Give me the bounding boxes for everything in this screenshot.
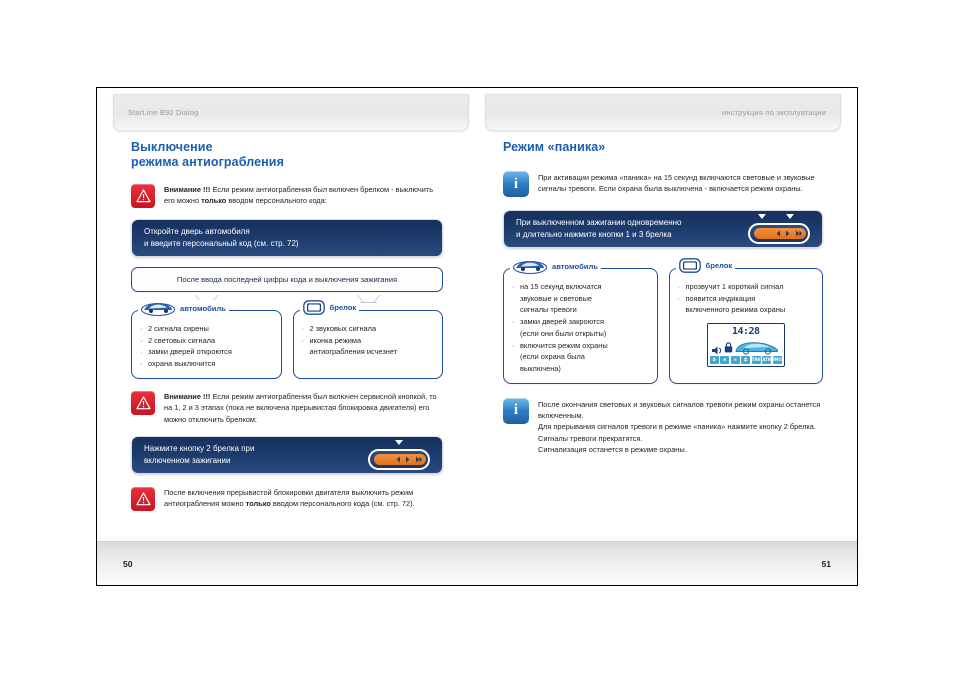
list-item-text: появится индикация <box>686 294 756 303</box>
result-head-fob: брелок <box>676 258 736 273</box>
list-item-text: 2 звуковых сигнала <box>310 324 377 333</box>
warning-note-3-strong-b: только <box>246 499 271 508</box>
chevron-down-icon <box>360 295 376 304</box>
warning-triangle-icon <box>131 184 155 208</box>
step-instruction-line1: Откройте дверь автомобиля <box>144 227 250 236</box>
warning-note-1-strong: Внимание !!! <box>164 185 210 194</box>
info-icon: i <box>503 398 529 424</box>
list-item-text: охрана выключится <box>148 359 215 368</box>
result-head-fob: брелок <box>300 300 360 315</box>
bullet: · <box>140 323 142 334</box>
list-item-text: прозвучит 1 короткий сигнал <box>686 282 784 291</box>
right-content-column: Режим «паника» i При активации режима «п… <box>477 140 857 541</box>
bullet: · <box>512 340 514 351</box>
list-item: ·2 световых сигнала <box>140 335 273 346</box>
step-instruction-bar: Откройте дверь автомобиля и введите перс… <box>131 219 443 257</box>
info-note-1-text: При активации режима «паника» на 15 секу… <box>538 171 823 195</box>
bullet: · <box>678 281 680 292</box>
list-item-text: (если охрана была <box>520 352 585 361</box>
list-item: ·замки дверей закроются <box>512 316 649 327</box>
step-instruction-line2: и введите персональный код (см. стр. 72) <box>144 239 299 248</box>
lcd-status-strip: ⏱ ✖ ≡ ⚿ TRN ATN IMO <box>710 356 782 364</box>
action-instruction-bar: Нажмите кнопку 2 брелка при включенном з… <box>131 436 443 474</box>
list-item: ·появится индикация <box>678 293 815 304</box>
list-item: ·иконка режима <box>302 335 435 346</box>
fob-lcd-display: 14:28 <box>707 323 785 367</box>
info-icon: i <box>503 171 529 197</box>
results-row-left: автомобиль ·2 сигнала сирены ·2 световых… <box>131 310 443 379</box>
key-fob-icon <box>303 300 325 315</box>
bullet: · <box>140 335 142 346</box>
lcd-status-cell: ≡ <box>731 356 740 364</box>
page-title-left: Выключение режима антиограбления <box>131 140 443 170</box>
list-item-text: сигналы тревоги <box>520 305 577 314</box>
result-head-car: автомобиль <box>138 300 229 316</box>
panic-action-bar: При выключенном зажигании одновременно и… <box>503 210 823 248</box>
lcd-status-cell: ⚿ <box>741 356 750 364</box>
page-left: StarLine B92 Dialog Выключение режима ан… <box>97 88 477 541</box>
list-item: ·замки дверей откроются <box>140 346 273 357</box>
lcd-status-cell: TRN <box>752 356 761 364</box>
fob-button-glyphs <box>396 455 426 464</box>
list-item: антиограбления исчезнет <box>302 346 435 357</box>
list-item: ·прозвучит 1 короткий сигнал <box>678 281 815 292</box>
result-box-fob: брелок ·2 звуковых сигнала ·иконка режим… <box>293 310 444 379</box>
warning-triangle-icon <box>131 391 155 415</box>
page-right: инструкция по эксплуатации Режим «паника… <box>477 88 857 541</box>
list-item-text: замки дверей закроются <box>520 317 604 326</box>
header-left-text: StarLine B92 Dialog <box>114 108 213 117</box>
list-item: выключена) <box>512 363 649 374</box>
warning-note-3-text: После включения прерывистой блокировки д… <box>164 487 443 510</box>
list-item-text: (если они были открыты) <box>520 329 606 338</box>
bullet: · <box>678 293 680 304</box>
pages-container: StarLine B92 Dialog Выключение режима ан… <box>97 88 857 541</box>
result-list-car: ·на 15 секунд включатся звуковые и свето… <box>512 281 649 374</box>
car-icon <box>141 300 175 316</box>
warning-note-1-text: Внимание !!! Если режим антиограбления б… <box>164 184 443 207</box>
header-bar-right: инструкция по эксплуатации <box>485 94 841 131</box>
list-item: сигналы тревоги <box>512 304 649 315</box>
button-marker-icon <box>786 214 794 219</box>
list-item: (если они были открыты) <box>512 328 649 339</box>
manual-spread: StarLine B92 Dialog Выключение режима ан… <box>96 87 858 586</box>
warning-note-2-strong: Внимание !!! <box>164 392 210 401</box>
info-note-2: i После окончания световых и звуковых си… <box>503 398 823 456</box>
condition-bar: После ввода последней цифры кода и выклю… <box>131 267 443 292</box>
action-instruction-line2: включенном зажигании <box>144 456 230 465</box>
action-instruction-line1: Нажмите кнопку 2 брелка при <box>144 444 254 453</box>
lcd-status-cell: ⏱ <box>710 356 719 364</box>
bullet: · <box>512 316 514 327</box>
warning-note-2-text: Внимание !!! Если режим антиограбления б… <box>164 391 443 425</box>
result-label-fob: брелок <box>330 303 357 312</box>
page-title-left-line2: режима антиограбления <box>131 155 284 169</box>
list-item: ·на 15 секунд включатся <box>512 281 649 292</box>
list-item: (если охрана была <box>512 351 649 362</box>
step-instruction-text: Откройте дверь автомобиля и введите перс… <box>144 226 430 251</box>
key-fob-icon <box>679 258 701 273</box>
info-note-1: i При активации режима «паника» на 15 се… <box>503 171 823 197</box>
list-item-text: 2 сигнала сирены <box>148 324 209 333</box>
list-item-text: 2 световых сигнала <box>148 336 215 345</box>
list-item: включенного режима охраны <box>678 304 815 315</box>
list-item-text: на 15 секунд включатся <box>520 282 602 291</box>
list-item-text: замки дверей откроются <box>148 347 232 356</box>
fob-body <box>368 449 430 470</box>
fob-button-graphic <box>748 214 810 244</box>
info-note-2-text: После окончания световых и звуковых сигн… <box>538 398 823 456</box>
list-item-text: звуковые и световые <box>520 294 592 303</box>
lock-icon <box>724 340 733 351</box>
warning-note-3: После включения прерывистой блокировки д… <box>131 487 443 511</box>
lcd-clock: 14:28 <box>708 326 784 337</box>
result-box-fob: брелок ·прозвучит 1 короткий сигнал ·поя… <box>669 268 824 384</box>
list-item-text: включится режим охраны <box>520 341 608 350</box>
panic-action-line2: и длительно нажмите кнопки 1 и 3 брелка <box>516 230 672 239</box>
list-item-text: выключена) <box>520 364 561 373</box>
warning-note-1-strong-b: только <box>201 196 226 205</box>
page-footer: 50 51 <box>97 541 857 585</box>
lcd-status-cell: ATN <box>762 356 771 364</box>
warning-note-2: Внимание !!! Если режим антиограбления б… <box>131 391 443 425</box>
header-right-text: инструкция по эксплуатации <box>708 108 840 117</box>
result-list-fob: ·прозвучит 1 короткий сигнал ·появится и… <box>678 281 815 316</box>
results-row-right: автомобиль ·на 15 секунд включатся звуко… <box>503 268 823 384</box>
bullet: · <box>140 346 142 357</box>
result-label-car: автомобиль <box>180 304 226 313</box>
panic-action-text: При выключенном зажигании одновременно и… <box>516 217 748 242</box>
result-head-car: автомобиль <box>510 258 601 274</box>
result-list-fob: ·2 звуковых сигнала ·иконка режима антио… <box>302 323 435 358</box>
result-label-car: автомобиль <box>552 262 598 271</box>
result-box-car: автомобиль ·на 15 секунд включатся звуко… <box>503 268 658 384</box>
fob-body <box>748 223 810 244</box>
page-number-left: 50 <box>123 559 132 569</box>
list-item-text: включенного режима охраны <box>686 305 786 314</box>
result-label-fob: брелок <box>706 261 733 270</box>
bullet: · <box>140 358 142 369</box>
warning-triangle-icon <box>131 487 155 511</box>
list-item: звуковые и световые <box>512 293 649 304</box>
warning-note-3-c: вводом персонального кода (см. стр. 72). <box>271 499 415 508</box>
warning-note-1-c: вводом персонального кода: <box>226 196 326 205</box>
left-content-column: Выключение режима антиограбления <box>97 140 477 541</box>
bullet: · <box>302 323 304 334</box>
action-instruction-text: Нажмите кнопку 2 брелка при включенном з… <box>144 443 368 468</box>
fob-button-glyphs <box>776 229 806 238</box>
page-title-right: Режим «паника» <box>503 140 823 155</box>
warning-note-1: Внимание !!! Если режим антиограбления б… <box>131 184 443 208</box>
bullet: · <box>512 281 514 292</box>
header-bar-left: StarLine B92 Dialog <box>113 94 469 131</box>
result-box-car: автомобиль ·2 сигнала сирены ·2 световых… <box>131 310 282 379</box>
button-marker-icon <box>758 214 766 219</box>
lcd-status-cell: IMO <box>773 356 782 364</box>
list-item: ·2 звуковых сигнала <box>302 323 435 334</box>
horn-icon <box>711 342 723 351</box>
list-item: ·2 сигнала сирены <box>140 323 273 334</box>
lcd-car-icon <box>734 339 780 355</box>
car-icon <box>513 258 547 274</box>
result-list-car: ·2 сигнала сирены ·2 световых сигнала ·з… <box>140 323 273 369</box>
button-marker-icon <box>395 440 403 445</box>
page-number-right: 51 <box>822 559 831 569</box>
list-item-text: иконка режима <box>310 336 362 345</box>
panic-action-line1: При выключенном зажигании одновременно <box>516 218 682 227</box>
list-item: ·охрана выключится <box>140 358 273 369</box>
fob-button-graphic <box>368 440 430 470</box>
bullet: · <box>302 335 304 346</box>
page-title-left-line1: Выключение <box>131 140 213 154</box>
list-item-text: антиограбления исчезнет <box>310 347 398 356</box>
lcd-status-cell: ✖ <box>720 356 729 364</box>
list-item: ·включится режим охраны <box>512 340 649 351</box>
